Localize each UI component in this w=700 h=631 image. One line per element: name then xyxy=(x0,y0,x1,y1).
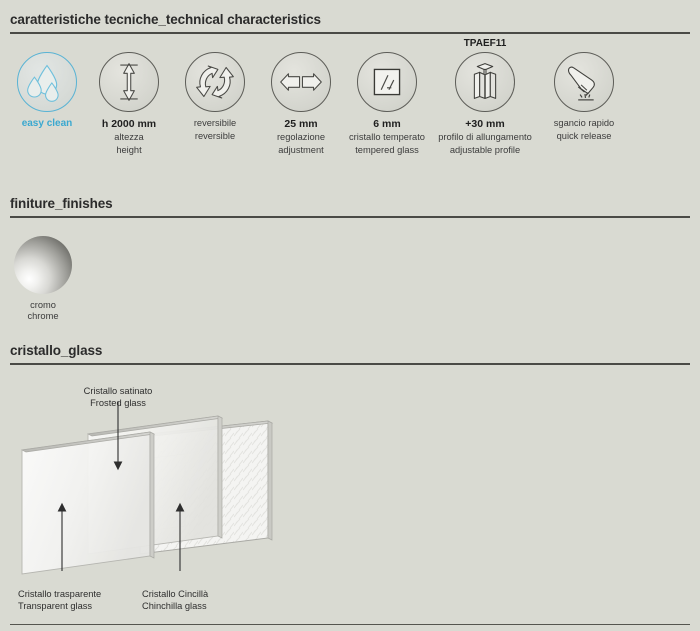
rotation-arrows-icon xyxy=(185,52,245,112)
glass-heading-rule xyxy=(10,363,690,365)
transparent-glass-label-en: Transparent glass xyxy=(18,601,92,611)
feature-label-en: height xyxy=(80,145,178,156)
feature-value: 6 mm xyxy=(338,118,436,130)
technical-feature-row: easy clean h 2000 mm altezza height xyxy=(0,44,700,164)
feature-value: +30 mm xyxy=(436,118,534,130)
vertical-double-arrow-icon xyxy=(99,52,159,112)
technical-heading-rule xyxy=(10,32,690,34)
feature-label-it: profilo di allungamento xyxy=(436,132,534,143)
hand-release-icon xyxy=(554,52,614,112)
frosted-glass-label-en: Frosted glass xyxy=(90,398,146,408)
feature-label-en: quick release xyxy=(535,131,633,142)
transparent-glass-panel xyxy=(22,432,154,574)
feature-value: 25 mm xyxy=(252,118,350,130)
frosted-glass-callout: Cristallo satinato Frosted glass xyxy=(58,386,178,409)
transparent-glass-callout: Cristallo trasparente Transparent glass xyxy=(18,589,101,612)
technical-characteristics-heading: caratteristiche tecniche_technical chara… xyxy=(10,12,321,27)
chrome-swatch-label-en: chrome xyxy=(27,311,58,321)
feature-height: h 2000 mm altezza height xyxy=(80,44,178,157)
feature-label-en: adjustable profile xyxy=(436,145,534,156)
frosted-glass-label-it: Cristallo satinato xyxy=(84,386,153,396)
feature-label-it: sgancio rapido xyxy=(535,118,633,129)
finishes-heading: finiture_finishes xyxy=(10,196,113,211)
feature-adjustment: 25 mm regolazione adjustment xyxy=(252,44,350,157)
feature-quick-release: sgancio rapido quick release xyxy=(535,44,633,143)
chrome-finish-swatch xyxy=(14,236,72,294)
chinchilla-glass-label-it: Cristallo Cincillà xyxy=(142,589,208,599)
chinchilla-glass-callout: Cristallo Cincillà Chinchilla glass xyxy=(142,589,208,612)
glass-pane-icon xyxy=(357,52,417,112)
feature-label-it: altezza xyxy=(80,132,178,143)
feature-reversible: reversibile reversible xyxy=(166,44,264,143)
feature-label-en: tempered glass xyxy=(338,145,436,156)
feature-label-it: cristallo temperato xyxy=(338,132,436,143)
profile-extrusion-icon xyxy=(455,52,515,112)
page-bottom-rule xyxy=(10,624,690,625)
chrome-swatch-label-it: cromo xyxy=(30,300,56,310)
feature-tempered-glass: 6 mm cristallo temperato tempered glass xyxy=(338,44,436,157)
feature-label-en: reversible xyxy=(166,131,264,142)
water-drops-icon xyxy=(17,52,77,112)
transparent-glass-label-it: Cristallo trasparente xyxy=(18,589,101,599)
feature-value: h 2000 mm xyxy=(80,118,178,130)
feature-label-en: adjustment xyxy=(252,145,350,156)
spec-sheet-page: caratteristiche tecniche_technical chara… xyxy=(0,0,700,631)
feature-label-it: reversibile xyxy=(166,118,264,129)
feature-label-it: regolazione xyxy=(252,132,350,143)
horizontal-double-arrow-icon xyxy=(271,52,331,112)
finishes-heading-rule xyxy=(10,216,690,218)
glass-heading: cristallo_glass xyxy=(10,343,102,358)
feature-adjustable-profile: +30 mm profilo di allungamento adjustabl… xyxy=(436,44,534,157)
chinchilla-glass-label-en: Chinchilla glass xyxy=(142,601,207,611)
